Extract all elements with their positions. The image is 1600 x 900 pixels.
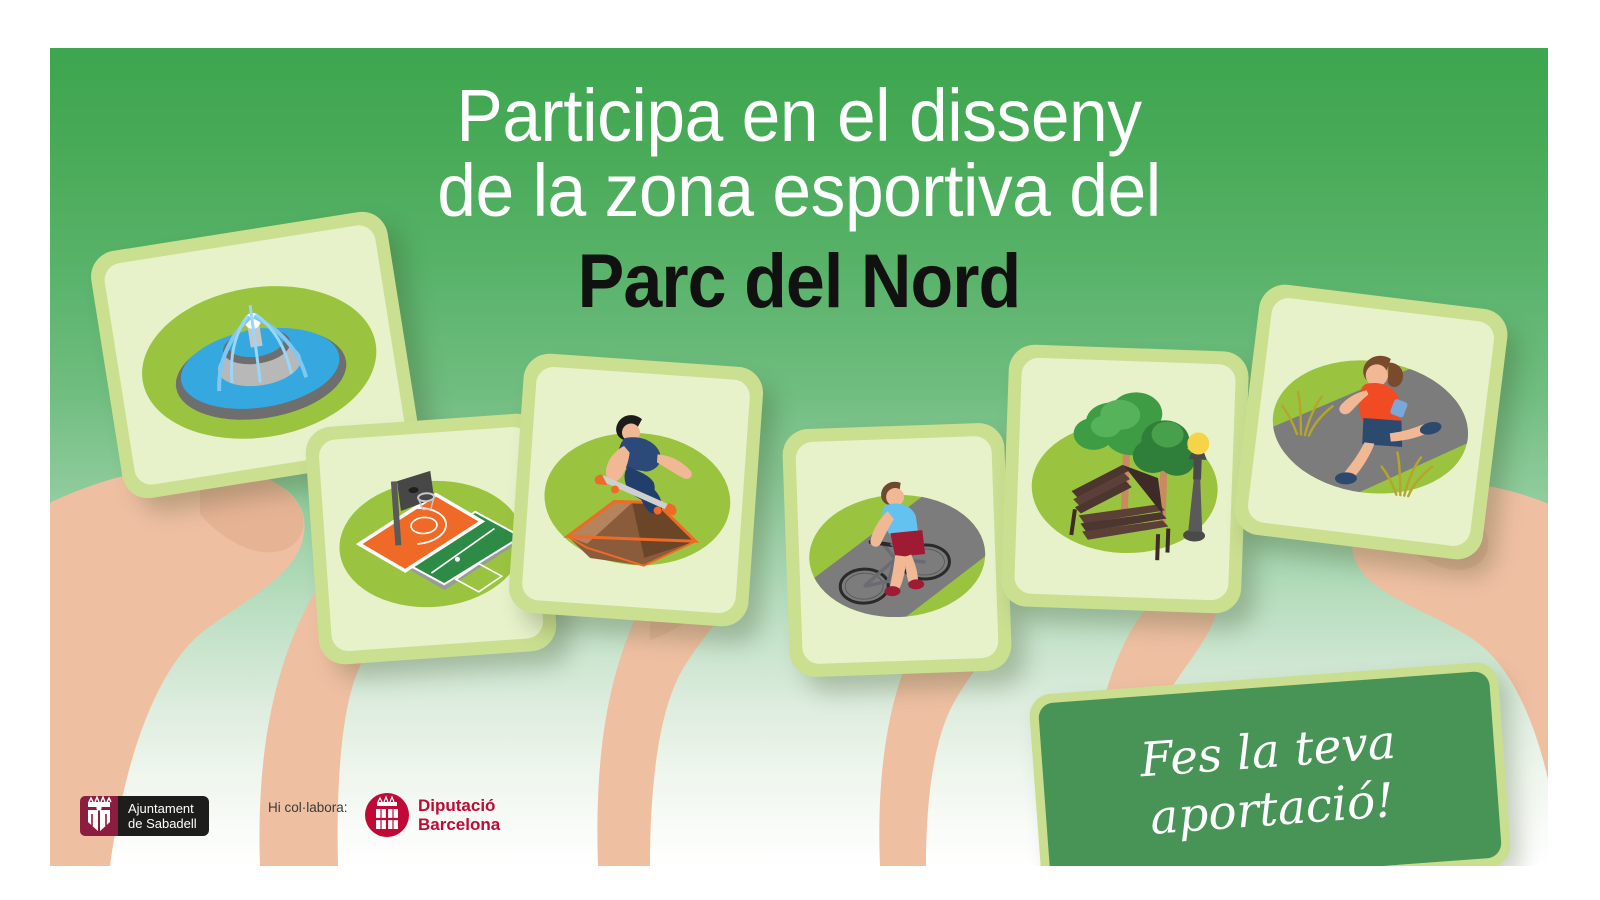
card-skate-face [521,366,751,614]
card-bench[interactable] [1001,344,1250,614]
card-sportcourt-face [318,426,544,652]
card-runner[interactable] [1232,282,1511,563]
card-skate[interactable] [507,352,765,628]
sport-court-icon [318,426,544,652]
callout-box[interactable]: Fes la teva aportació! [1028,661,1512,900]
sabadell-crest-icon [80,796,118,836]
callout-text: Fes la teva aportació! [1138,714,1402,847]
card-bike[interactable] [782,422,1013,678]
sabadell-line-2: de Sabadell [128,816,197,831]
footer-bar [0,866,1600,900]
runner-icon [1246,296,1496,548]
sabadell-name-block: Ajuntament de Sabadell [118,796,209,836]
poster-canvas: Participa en el disseny de la zona espor… [0,0,1600,900]
cyclist-icon [795,436,999,665]
park-bench-icon [1014,357,1236,600]
logo-diputacio-barcelona[interactable]: Diputació Barcelona [365,793,500,837]
diputacio-name-block: Diputació Barcelona [418,796,500,834]
diputacio-line-2: Barcelona [418,815,500,834]
card-runner-face [1246,296,1496,548]
callout-inner: Fes la teva aportació! [1038,671,1502,891]
card-bike-face [795,436,999,665]
sabadell-line-1: Ajuntament [128,801,197,816]
diputacio-seal-icon [365,793,409,837]
skatepark-icon [521,366,751,614]
diputacio-line-1: Diputació [418,796,500,815]
collaborate-label: Hi col·labora: [268,800,348,815]
logo-ajuntament-sabadell[interactable]: Ajuntament de Sabadell [80,796,209,836]
card-bench-face [1014,357,1236,600]
